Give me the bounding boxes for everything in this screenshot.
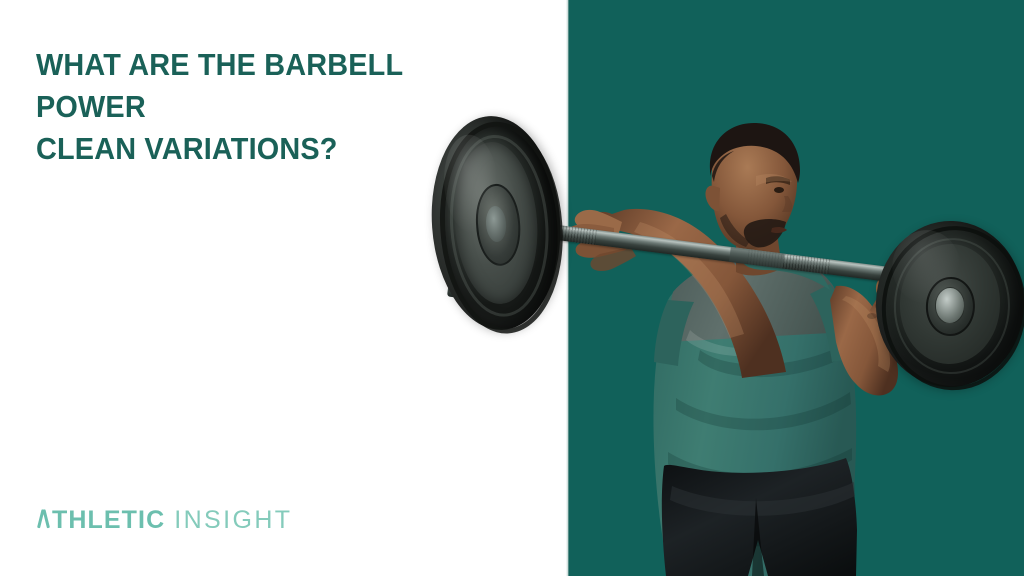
brand-logo[interactable]: THLETIC INSIGHT [36,506,292,535]
logo-word-athletic: THLETIC [52,506,165,535]
logo-word-insight: INSIGHT [174,506,292,535]
athlete-photograph [0,0,1024,576]
banner-canvas: WHAT ARE THE BARBELL POWER CLEAN VARIATI… [0,0,1024,576]
athlete-body [566,123,937,576]
logo-lambda-a-icon: THLETIC [36,506,165,535]
athlete-head [705,123,800,249]
